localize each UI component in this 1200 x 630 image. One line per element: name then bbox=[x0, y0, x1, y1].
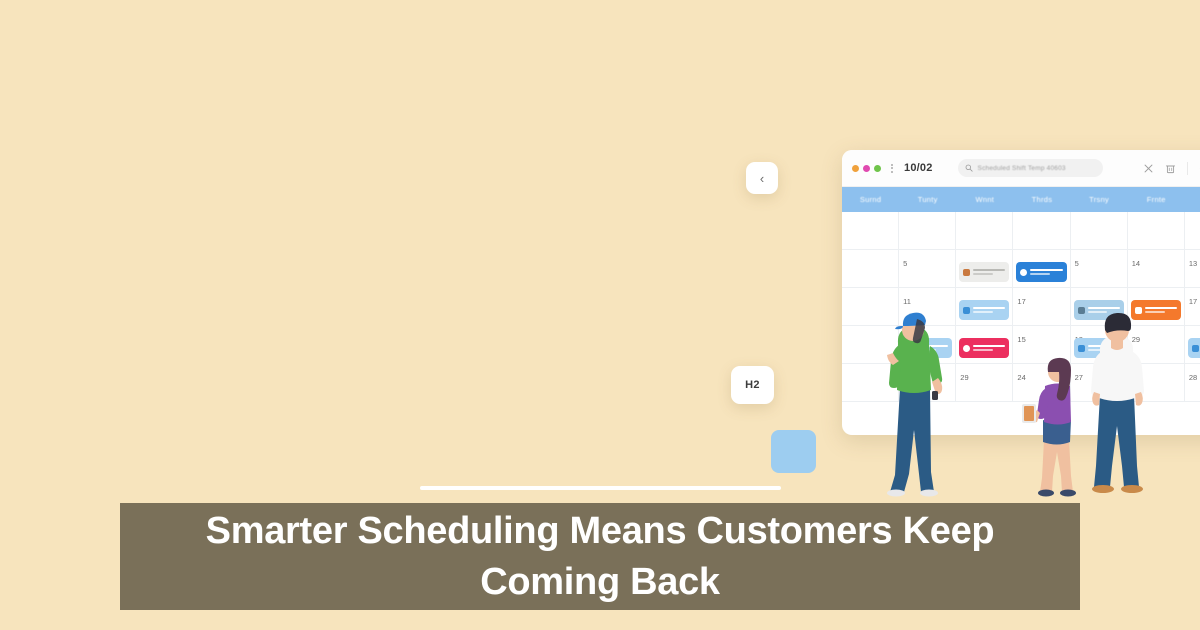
event-type-icon bbox=[963, 269, 970, 276]
h2-label: H2 bbox=[745, 379, 760, 391]
calendar-day-cell[interactable]: 29 bbox=[956, 364, 1013, 402]
calendar-day-number: 29 bbox=[1132, 335, 1140, 344]
calendar-day-cell[interactable]: 29 bbox=[1128, 326, 1185, 364]
calendar-day-cell[interactable]: 23 bbox=[899, 364, 956, 402]
calendar-day-cell[interactable] bbox=[842, 326, 899, 364]
event-label-placeholder bbox=[1145, 307, 1177, 313]
day-header: Surnd bbox=[842, 187, 899, 212]
day-header: Frnte bbox=[1128, 187, 1185, 212]
day-header: Wnnt bbox=[956, 187, 1013, 212]
calendar-day-cell[interactable]: 13 bbox=[1185, 250, 1200, 288]
day-header: Tunty bbox=[899, 187, 956, 212]
event-label-placeholder bbox=[973, 345, 1005, 351]
calendar-day-number: 5 bbox=[903, 259, 907, 268]
window-date-label: 10/02 bbox=[904, 162, 933, 174]
calendar-day-cell[interactable]: 28 bbox=[1185, 364, 1200, 402]
calendar-day-number: 23 bbox=[903, 373, 911, 382]
search-input[interactable]: Scheduled Shift Temp 40603 bbox=[958, 159, 1103, 177]
calendar-day-cell[interactable]: 11 bbox=[899, 288, 956, 326]
calendar-day-cell[interactable] bbox=[1185, 326, 1200, 364]
calendar-day-header-row: Surnd Tunty Wnnt Thrds Trsny Frnte Tatv bbox=[842, 187, 1200, 212]
event-type-icon bbox=[906, 345, 913, 352]
calendar-day-cell[interactable] bbox=[842, 364, 899, 402]
calendar-day-cell[interactable] bbox=[1071, 288, 1128, 326]
search-input-value: Scheduled Shift Temp 40603 bbox=[978, 165, 1066, 172]
calendar-day-number: 5 bbox=[1075, 259, 1079, 268]
calendar-day-cell[interactable]: 12 bbox=[1071, 326, 1128, 364]
calendar-event-chip[interactable] bbox=[1074, 338, 1124, 358]
traffic-light-green[interactable] bbox=[874, 165, 881, 172]
calendar-day-number: 13 bbox=[1189, 259, 1197, 268]
calendar-day-number: 11 bbox=[903, 297, 911, 306]
window-traffic-lights[interactable] bbox=[852, 165, 881, 172]
calendar-day-number: 17 bbox=[1017, 297, 1025, 306]
traffic-light-orange[interactable] bbox=[852, 165, 859, 172]
calendar-event-chip[interactable] bbox=[1074, 300, 1124, 320]
calendar-event-chip[interactable] bbox=[959, 262, 1009, 282]
calendar-day-number: 28 bbox=[1189, 373, 1197, 382]
event-type-icon bbox=[1078, 345, 1085, 352]
calendar-day-cell[interactable] bbox=[1128, 288, 1185, 326]
calendar-day-number: 17 bbox=[1189, 297, 1197, 306]
trash-icon[interactable] bbox=[1165, 163, 1176, 174]
calendar-day-cell[interactable] bbox=[1185, 212, 1200, 250]
calendar-day-cell[interactable] bbox=[956, 326, 1013, 364]
day-header: Thrds bbox=[1013, 187, 1070, 212]
calendar-grid[interactable]: 551413111717151229232924272528 bbox=[842, 212, 1200, 402]
calendar-day-cell[interactable]: 27 bbox=[1071, 364, 1128, 402]
calendar-day-cell[interactable]: 25 bbox=[1128, 364, 1185, 402]
calendar-event-chip[interactable] bbox=[1188, 338, 1200, 358]
heading-level-card[interactable]: H2 bbox=[731, 366, 774, 404]
calendar-event-chip[interactable] bbox=[902, 338, 952, 358]
event-label-placeholder bbox=[916, 345, 948, 351]
calendar-day-cell[interactable]: 17 bbox=[1013, 288, 1070, 326]
day-header: Tatv bbox=[1185, 187, 1200, 212]
event-type-icon bbox=[1078, 307, 1085, 314]
title-banner: Smarter Scheduling Means Customers Keep … bbox=[120, 503, 1080, 610]
day-header: Trsny bbox=[1071, 187, 1128, 212]
calendar-day-number: 27 bbox=[1075, 373, 1083, 382]
calendar-day-cell[interactable] bbox=[1071, 212, 1128, 250]
title-divider bbox=[420, 486, 781, 490]
calendar-day-cell[interactable]: 5 bbox=[1071, 250, 1128, 288]
event-label-placeholder bbox=[973, 307, 1005, 313]
event-label-placeholder bbox=[973, 269, 1005, 275]
calendar-day-number: 15 bbox=[1017, 335, 1025, 344]
event-type-icon bbox=[963, 307, 970, 314]
back-button-card[interactable]: ‹ bbox=[746, 162, 778, 194]
blue-color-swatch[interactable] bbox=[771, 430, 816, 473]
calendar-event-chip[interactable] bbox=[959, 338, 1009, 358]
calendar-day-cell[interactable]: 5 bbox=[899, 250, 956, 288]
calendar-day-cell[interactable] bbox=[1013, 212, 1070, 250]
calendar-day-cell[interactable] bbox=[1013, 250, 1070, 288]
calendar-day-cell[interactable] bbox=[956, 288, 1013, 326]
calendar-day-cell[interactable] bbox=[842, 250, 899, 288]
calendar-day-cell[interactable] bbox=[899, 212, 956, 250]
window-titlebar: 10/02 Scheduled Shift Temp 40603 bbox=[842, 150, 1200, 187]
calendar-day-number: 29 bbox=[960, 373, 968, 382]
calendar-day-number: 24 bbox=[1017, 373, 1025, 382]
calendar-day-cell[interactable]: 24 bbox=[1013, 364, 1070, 402]
calendar-day-cell[interactable] bbox=[1128, 212, 1185, 250]
calendar-app-window: 10/02 Scheduled Shift Temp 40603 bbox=[842, 150, 1200, 435]
close-icon[interactable] bbox=[1143, 163, 1154, 174]
event-label-placeholder bbox=[1030, 269, 1062, 275]
calendar-event-chip[interactable] bbox=[1016, 262, 1066, 282]
event-label-placeholder bbox=[1088, 345, 1120, 351]
calendar-day-cell[interactable]: 17 bbox=[1185, 288, 1200, 326]
toolbar-icons bbox=[1143, 162, 1200, 175]
event-type-icon bbox=[1135, 307, 1142, 314]
calendar-event-chip[interactable] bbox=[1131, 300, 1181, 320]
calendar-day-cell[interactable] bbox=[956, 212, 1013, 250]
kebab-menu-icon[interactable] bbox=[891, 164, 893, 173]
calendar-day-number: 25 bbox=[1132, 373, 1140, 382]
traffic-light-magenta[interactable] bbox=[863, 165, 870, 172]
calendar-day-number: 14 bbox=[1132, 259, 1140, 268]
chevron-left-icon: ‹ bbox=[760, 172, 764, 185]
event-type-icon bbox=[1192, 345, 1199, 352]
event-label-placeholder bbox=[1088, 307, 1120, 313]
calendar-day-cell[interactable] bbox=[842, 212, 899, 250]
calendar-day-cell[interactable] bbox=[956, 250, 1013, 288]
event-type-icon bbox=[1020, 269, 1027, 276]
calendar-day-cell[interactable]: 15 bbox=[1013, 326, 1070, 364]
calendar-day-cell[interactable] bbox=[899, 326, 956, 364]
calendar-event-chip[interactable] bbox=[959, 300, 1009, 320]
search-icon bbox=[965, 164, 973, 172]
page-title: Smarter Scheduling Means Customers Keep … bbox=[134, 506, 1066, 607]
calendar-day-cell[interactable] bbox=[842, 288, 899, 326]
calendar-day-cell[interactable]: 14 bbox=[1128, 250, 1185, 288]
toolbar-divider bbox=[1187, 162, 1188, 175]
event-type-icon bbox=[963, 345, 970, 352]
